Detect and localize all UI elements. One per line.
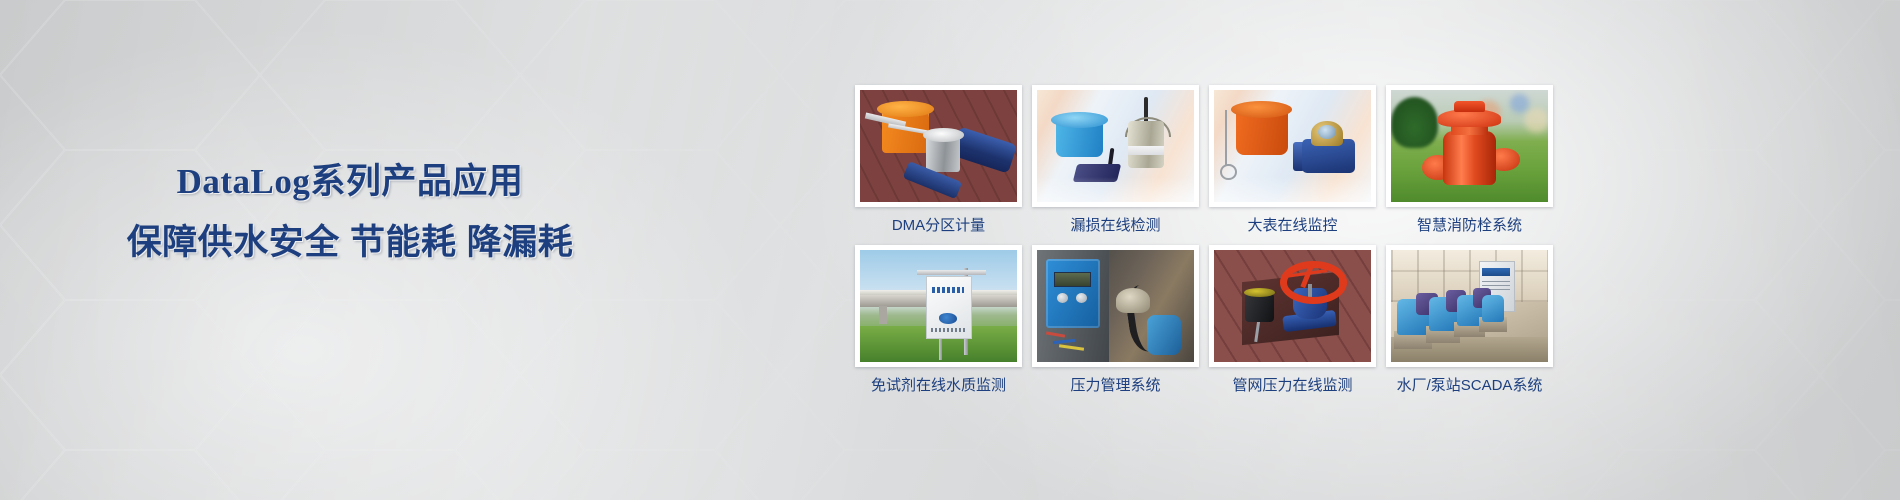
tile-caption: 智慧消防栓系统 [1417,216,1522,236]
leak-online-detection-photo [1037,90,1194,202]
tile-caption: DMA分区计量 [892,216,985,236]
tile-pressure-management-system[interactable]: 压力管理系统 [1032,245,1199,396]
pipe-network-pressure-photo [1214,250,1371,362]
tile-leak-online-detection[interactable]: 漏损在线检测 [1032,85,1199,236]
dma-district-metering-photo [860,90,1017,202]
headline-block: DataLog系列产品应用 保障供水安全 节能耗 降漏耗 [0,160,700,266]
gallery-row-1: DMA分区计量 [855,85,1555,236]
tile-frame [1386,245,1553,367]
tile-frame [1032,85,1199,207]
product-application-banner: DataLog系列产品应用 保障供水安全 节能耗 降漏耗 [0,0,1900,500]
waterworks-pump-scada-photo [1391,250,1548,362]
tile-reagent-free-water-quality[interactable]: 免试剂在线水质监测 [855,245,1022,396]
tile-smart-hydrant-system[interactable]: 智慧消防栓系统 [1386,85,1553,236]
tile-frame [1209,85,1376,207]
pressure-management-system-photo [1037,250,1194,362]
tile-pipe-network-pressure[interactable]: 管网压力在线监测 [1209,245,1376,396]
gallery-row-2: 免试剂在线水质监测 [855,245,1555,396]
tile-caption: 漏损在线检测 [1070,216,1160,236]
tile-frame [1386,85,1553,207]
tile-dma-district-metering[interactable]: DMA分区计量 [855,85,1022,236]
tile-caption: 压力管理系统 [1070,376,1160,396]
tile-frame [1209,245,1376,367]
product-application-gallery: DMA分区计量 [855,85,1555,405]
tile-frame [1032,245,1199,367]
tile-caption: 免试剂在线水质监测 [871,376,1006,396]
tile-large-meter-online-monitoring[interactable]: 大表在线监控 [1209,85,1376,236]
tile-waterworks-pump-scada[interactable]: 水厂/泵站SCADA系统 [1386,245,1553,396]
tile-frame [855,85,1022,207]
tile-caption: 水厂/泵站SCADA系统 [1397,376,1543,396]
tile-caption: 管网压力在线监测 [1232,376,1352,396]
reagent-free-water-quality-photo [860,250,1017,362]
headline-line-2: 保障供水安全 节能耗 降漏耗 [0,220,700,266]
tile-caption: 大表在线监控 [1247,216,1337,236]
smart-hydrant-system-photo [1391,90,1548,202]
tile-frame [855,245,1022,367]
large-meter-online-monitoring-photo [1214,90,1371,202]
headline-line-1: DataLog系列产品应用 [0,160,700,204]
